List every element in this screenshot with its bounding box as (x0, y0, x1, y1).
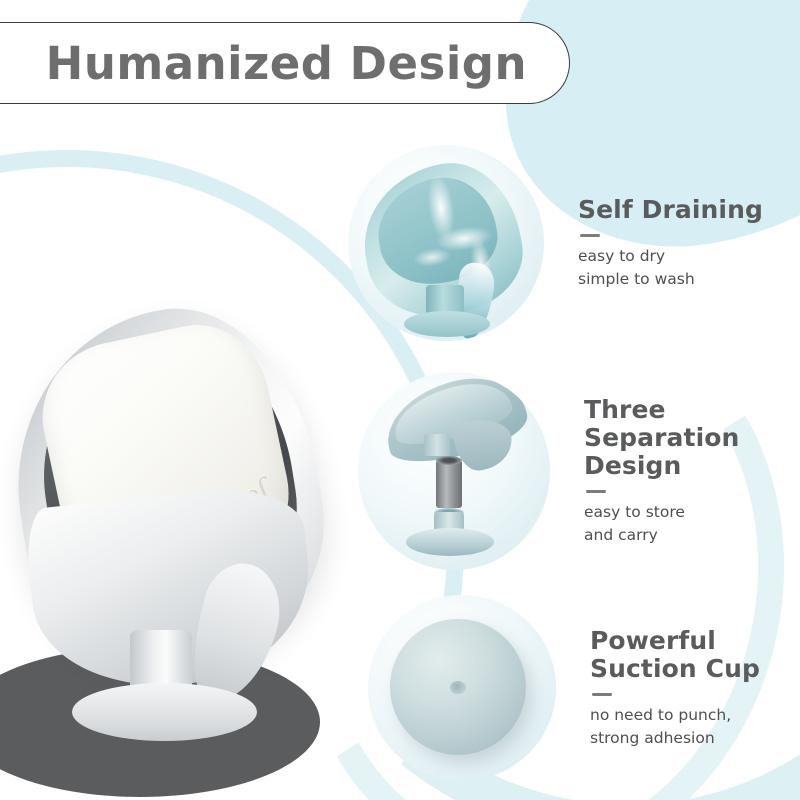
feature-text-three-separation-design: Three Separation Design easy to store an… (584, 396, 800, 546)
metal-tube-icon (436, 460, 462, 508)
feature-subtitle: easy to dry simple to wash (578, 245, 763, 290)
divider-dash (580, 234, 600, 237)
divider-dash (586, 490, 606, 493)
suction-base-plate (406, 528, 494, 556)
feature-subtitle: no need to punch, strong adhesion (590, 704, 760, 749)
feature-subtitle: easy to store and carry (584, 501, 800, 546)
feature-powerful-suction-cup: Powerful Suction Cup no need to punch, s… (368, 595, 760, 781)
feature-image-self-draining (348, 145, 544, 341)
feature-text-self-draining: Self Draining easy to dry simple to wash (578, 196, 763, 290)
suction-cup-center-nub (450, 681, 466, 694)
title-pill: Humanized Design (0, 22, 570, 104)
metal-tube-opening (436, 456, 462, 465)
feature-heading: Powerful Suction Cup (590, 627, 760, 683)
feature-three-separation-design: Three Separation Design easy to store an… (358, 372, 800, 570)
hero-product-image: Johnson's (0, 295, 350, 800)
feature-image-three-separation-design (358, 372, 550, 570)
feature-self-draining: Self Draining easy to dry simple to wash (348, 145, 763, 341)
divider-dash (592, 693, 612, 696)
product-infographic-poster: Humanized Design Johnson's Self Draining… (0, 0, 800, 800)
page-title: Humanized Design (46, 37, 527, 90)
separated-dish-neck (424, 434, 450, 456)
hero-base-plate (72, 683, 257, 741)
feature-text-powerful-suction-cup: Powerful Suction Cup no need to punch, s… (590, 627, 760, 749)
teal-suction-foot (404, 311, 490, 337)
feature-image-powerful-suction-cup (368, 595, 556, 781)
feature-heading: Three Separation Design (584, 396, 800, 480)
feature-heading: Self Draining (578, 196, 763, 224)
